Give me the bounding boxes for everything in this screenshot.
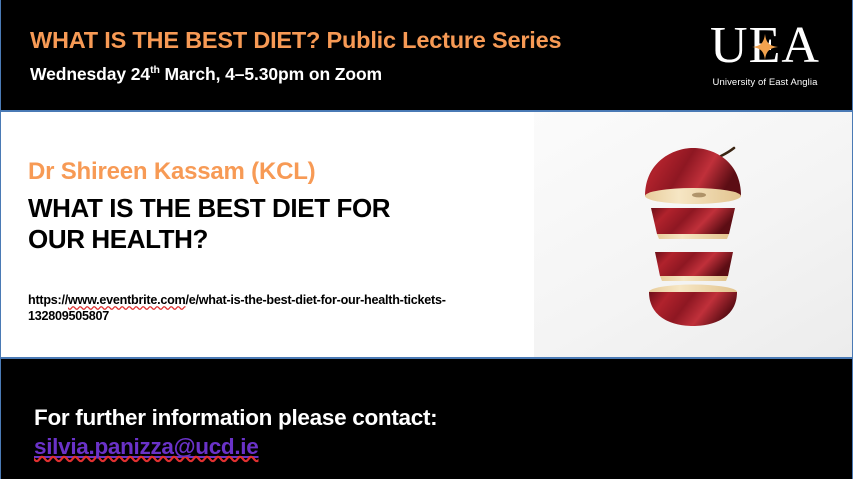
date-prefix: Wednesday 24 — [30, 64, 150, 84]
url-domain: www.eventbrite.com — [68, 293, 186, 307]
uea-logo-caption: University of East Anglia — [705, 77, 825, 88]
sliced-apple-photo — [534, 112, 853, 357]
body-text-block: Dr Shireen Kassam (KCL) WHAT IS THE BEST… — [28, 158, 528, 256]
speaker-name: Dr Shireen Kassam (KCL) — [28, 158, 528, 186]
registration-url[interactable]: https://www.eventbrite.com/e/what-is-the… — [28, 292, 524, 324]
date-suffix: March, 4–5.30pm on Zoom — [160, 64, 382, 84]
lecture-title-line-1: WHAT IS THE BEST DIET FOR — [28, 193, 528, 225]
uea-logo: UEA University of East Anglia — [705, 20, 825, 88]
url-scheme: https:// — [28, 293, 68, 307]
uea-wordmark-left: UE — [710, 17, 781, 74]
poster-title: WHAT IS THE BEST DIET? Public Lecture Se… — [30, 28, 710, 54]
contact-block: For further information please contact: … — [34, 404, 594, 460]
lecture-title-line-2: OUR HEALTH? — [28, 224, 528, 256]
apple-illustration — [629, 140, 759, 330]
date-ordinal-suffix: th — [150, 64, 160, 76]
poster-header: WHAT IS THE BEST DIET? Public Lecture Se… — [1, 0, 853, 111]
poster-footer: For further information please contact: … — [1, 359, 853, 479]
lecture-title: WHAT IS THE BEST DIET FOR OUR HEALTH? — [28, 193, 528, 256]
header-text-block: WHAT IS THE BEST DIET? Public Lecture Se… — [30, 28, 710, 85]
contact-email-link[interactable]: silvia.panizza@ucd.ie — [34, 433, 258, 460]
contact-label: For further information please contact: — [34, 404, 594, 431]
lecture-poster: WHAT IS THE BEST DIET? Public Lecture Se… — [0, 0, 853, 479]
uea-wordmark-right: A — [781, 17, 820, 74]
contact-email-text: silvia.panizza@ucd.ie — [34, 434, 258, 459]
uea-wordmark: UEA — [705, 20, 825, 72]
poster-date-time: Wednesday 24th March, 4–5.30pm on Zoom — [30, 64, 710, 85]
